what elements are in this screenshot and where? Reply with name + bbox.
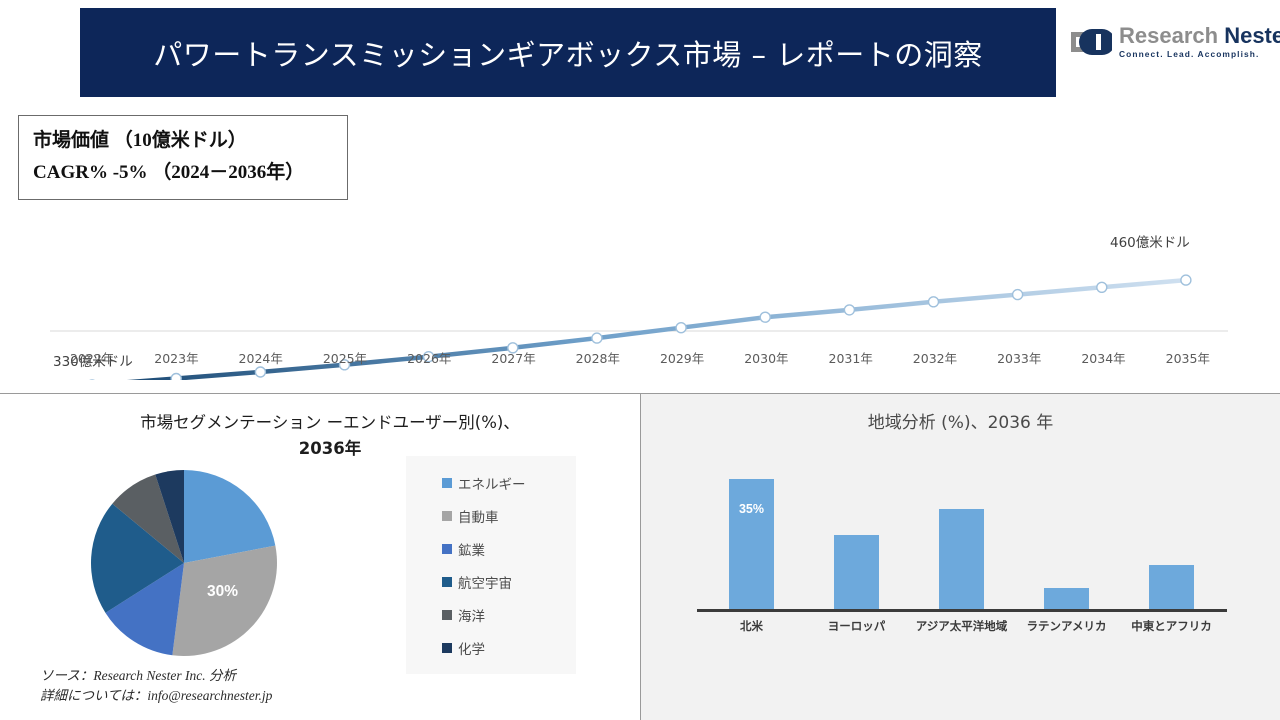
source-line2: 詳細については：info@researchnester.jp: [40, 686, 272, 706]
line-chart-point: [1013, 290, 1023, 300]
pie-title-line1: 市場セグメンテーション ーエンドユーザー別(%)、: [140, 413, 520, 432]
line-chart-x-tick: 2030年: [724, 348, 808, 367]
line-chart-x-tick: 2026年: [387, 348, 471, 367]
legend-label: 鉱業: [458, 539, 485, 559]
bar-chart-bar[interactable]: [939, 509, 984, 610]
line-chart-x-tick: 2023年: [134, 348, 218, 367]
line-chart-x-tick: 2022年: [50, 348, 134, 367]
legend-item[interactable]: 鉱業: [406, 532, 576, 565]
bar-chart-plot: 35%: [699, 460, 1224, 610]
line-chart-x-tick: 2033年: [977, 348, 1061, 367]
market-value-line-chart: 330億米ドル 460億米ドル: [0, 100, 1280, 380]
brand-logo: Research Nester Connect. Lead. Accomplis…: [1068, 18, 1273, 66]
line-chart-point: [1181, 275, 1191, 285]
bar-slot: 35%: [699, 460, 804, 610]
legend-swatch-icon: [442, 544, 452, 554]
brand-name-research: Research: [1119, 23, 1218, 48]
bar-slot: [1119, 460, 1224, 610]
bar-chart-x-axis-labels: 北米ヨーロッパアジア太平洋地域ラテンアメリカ中東とアフリカ: [699, 618, 1224, 634]
bar-slot: [909, 460, 1014, 610]
bar-chart-x-tick: ラテンアメリカ: [1014, 618, 1119, 634]
brand-tagline: Connect. Lead. Accomplish.: [1119, 50, 1280, 58]
line-chart-point: [1097, 282, 1107, 292]
pie-slice-value-label: 30%: [207, 583, 238, 601]
bar-value-label: 35%: [729, 502, 774, 516]
line-chart-point: [171, 374, 181, 381]
legend-item[interactable]: 化学: [406, 631, 576, 664]
line-end-value-label: 460億米ドル: [1110, 231, 1190, 251]
line-chart-point: [760, 312, 770, 322]
regional-analysis-panel: 地域分析 (%)、2036 年 35% 北米ヨーロッパアジア太平洋地域ラテンアメ…: [641, 394, 1280, 720]
pie-chart-legend: エネルギー自動車鉱業航空宇宙海洋化学: [406, 456, 576, 674]
legend-swatch-icon: [442, 478, 452, 488]
segmentation-panel: 市場セグメンテーション ーエンドユーザー別(%)、 2036年 エネルギー自動車…: [0, 394, 640, 720]
brand-name: Research Nester: [1119, 25, 1280, 47]
pie-chart-title: 市場セグメンテーション ーエンドユーザー別(%)、 2036年: [60, 410, 600, 462]
line-chart-x-tick: 2032年: [893, 348, 977, 367]
pie-title-line2: 2036年: [299, 439, 361, 458]
line-chart-point: [592, 333, 602, 343]
legend-item[interactable]: 自動車: [406, 499, 576, 532]
legend-label: 航空宇宙: [458, 572, 512, 592]
bar-chart-baseline: [697, 609, 1227, 612]
brand-name-nester: Nester: [1224, 23, 1280, 48]
line-chart-point: [676, 323, 686, 333]
line-chart-x-tick: 2024年: [219, 348, 303, 367]
line-chart-svg: [0, 100, 1280, 380]
legend-label: 化学: [458, 638, 485, 658]
line-chart-x-tick: 2035年: [1146, 348, 1230, 367]
bar-chart-bar[interactable]: 35%: [729, 479, 774, 610]
bar-chart-x-tick: 中東とアフリカ: [1119, 618, 1224, 634]
bar-chart-title: 地域分析 (%)、2036 年: [641, 408, 1280, 433]
legend-swatch-icon: [442, 511, 452, 521]
legend-item[interactable]: 航空宇宙: [406, 565, 576, 598]
pie-chart-svg: [78, 466, 290, 662]
line-chart-x-tick: 2028年: [556, 348, 640, 367]
legend-swatch-icon: [442, 643, 452, 653]
bar-chart-bar[interactable]: [1149, 565, 1194, 610]
legend-item[interactable]: エネルギー: [406, 466, 576, 499]
legend-swatch-icon: [442, 610, 452, 620]
legend-item[interactable]: 海洋: [406, 598, 576, 631]
line-chart-x-tick: 2034年: [1061, 348, 1145, 367]
legend-label: エネルギー: [458, 473, 526, 493]
line-chart-point: [929, 297, 939, 307]
line-chart-x-tick: 2029年: [640, 348, 724, 367]
brand-text: Research Nester Connect. Lead. Accomplis…: [1119, 25, 1280, 58]
bar-slot: [1014, 460, 1119, 610]
legend-swatch-icon: [442, 577, 452, 587]
line-chart-x-tick: 2031年: [809, 348, 893, 367]
line-chart-x-tick: 2025年: [303, 348, 387, 367]
line-chart-x-axis-labels: 2022年2023年2024年2025年2026年2027年2028年2029年…: [50, 348, 1230, 367]
header-banner: パワートランスミッションギアボックス市場 – レポートの洞察: [80, 8, 1056, 97]
source-line1: ソース：Research Nester Inc. 分析: [40, 666, 272, 686]
line-chart-point: [844, 305, 854, 315]
bar-chart-x-tick: 北米: [699, 618, 804, 634]
bar-chart-x-tick: アジア太平洋地域: [909, 618, 1014, 634]
pie-slices: [91, 470, 277, 656]
source-note: ソース：Research Nester Inc. 分析 詳細については：info…: [40, 666, 272, 706]
line-chart-point: [255, 367, 265, 377]
research-nester-logo-icon: [1068, 25, 1112, 59]
bar-chart-bar[interactable]: [1044, 588, 1089, 611]
bar-chart-bar[interactable]: [834, 535, 879, 610]
legend-label: 海洋: [458, 605, 485, 625]
line-chart-x-tick: 2027年: [471, 348, 555, 367]
bar-chart-x-tick: ヨーロッパ: [804, 618, 909, 634]
bar-slot: [804, 460, 909, 610]
page-title: パワートランスミッションギアボックス市場 – レポートの洞察: [153, 32, 983, 74]
legend-label: 自動車: [458, 506, 499, 526]
